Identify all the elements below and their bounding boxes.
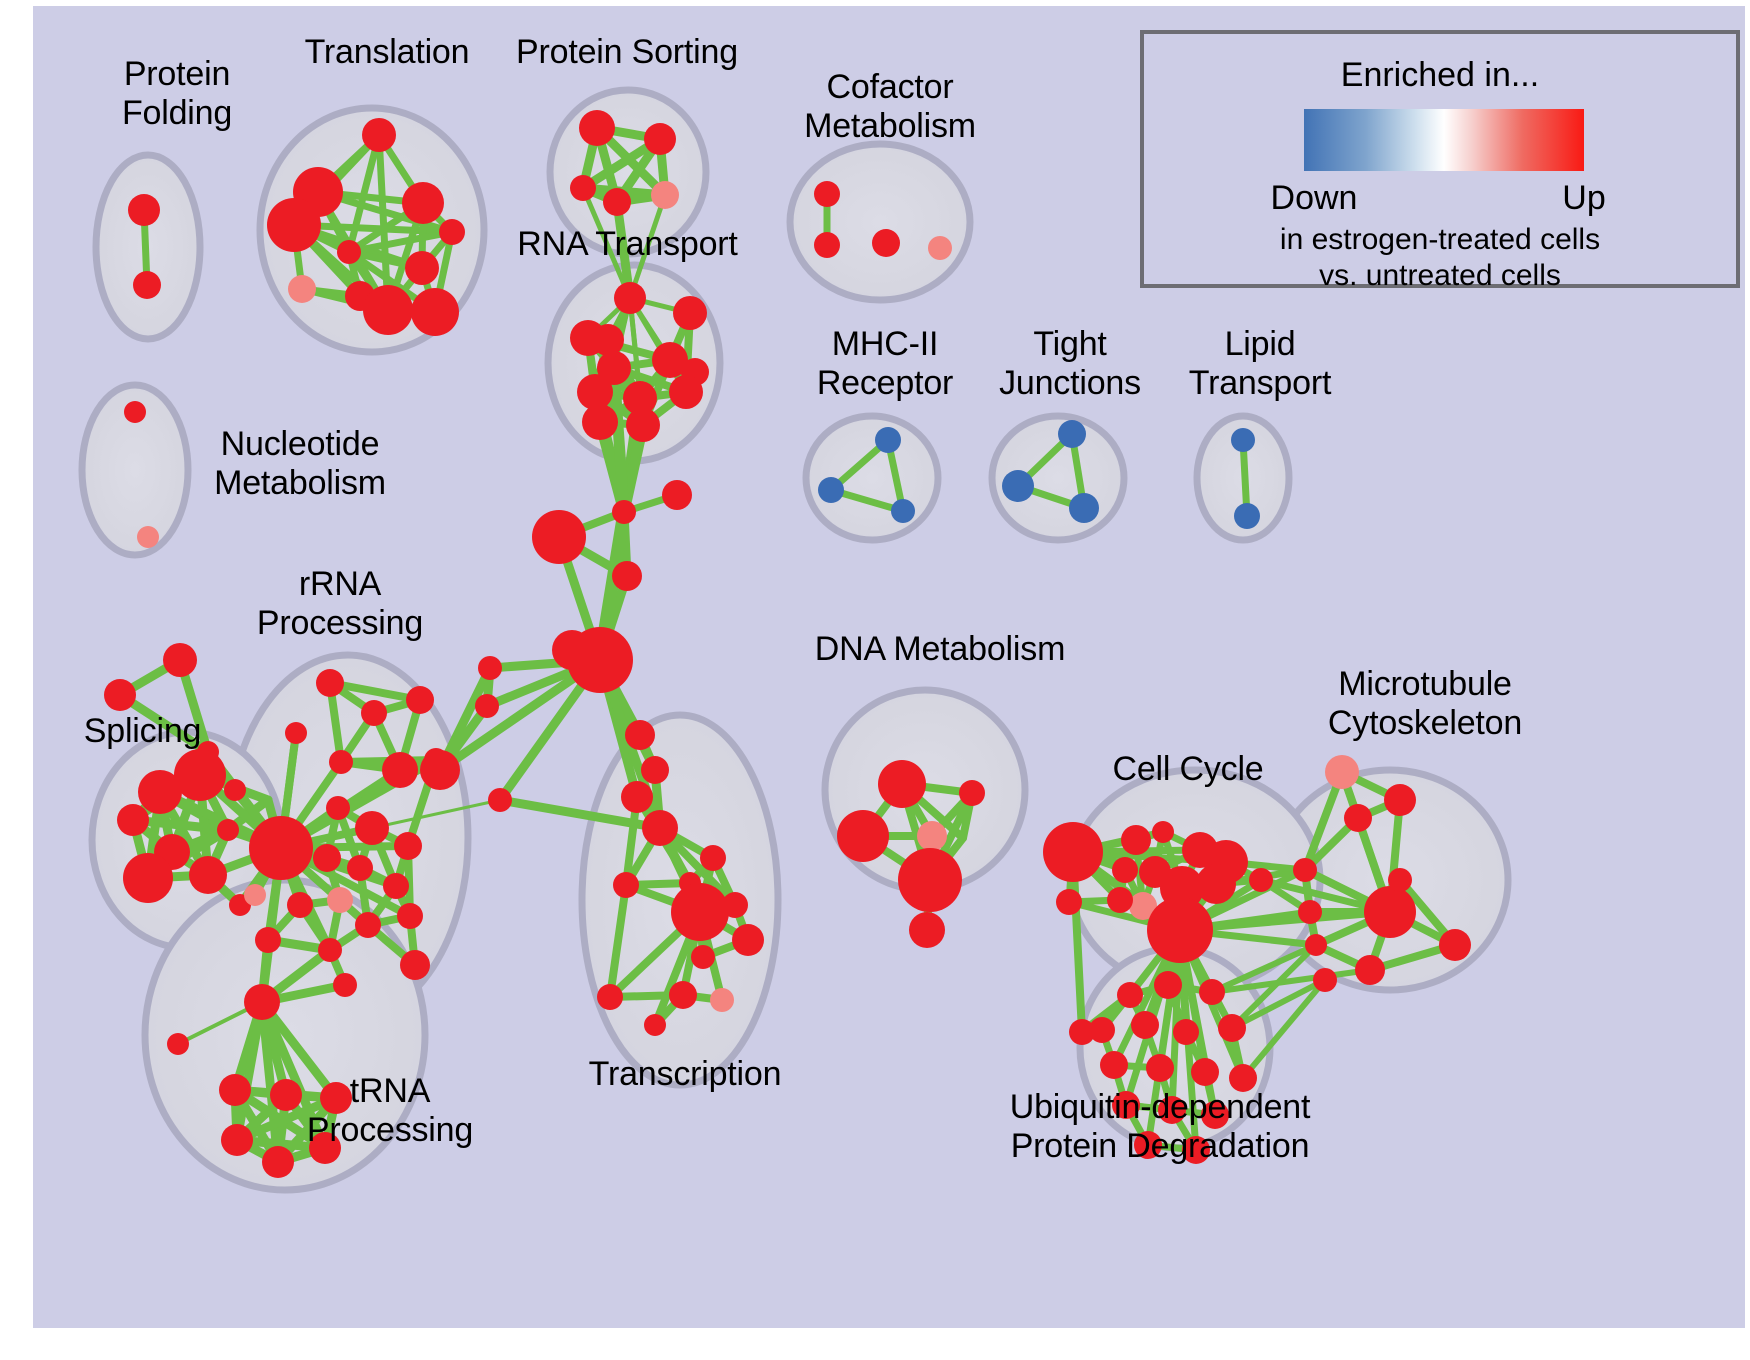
node <box>1147 897 1213 963</box>
node <box>189 856 227 894</box>
cluster-label-rna-transport: RNA Transport <box>500 225 755 264</box>
cluster-label-transcription: Transcription <box>560 1055 810 1094</box>
node <box>1002 470 1034 502</box>
node <box>552 630 592 670</box>
node <box>313 844 341 872</box>
node <box>405 251 439 285</box>
node <box>928 236 952 260</box>
node <box>651 181 679 209</box>
node <box>329 750 353 774</box>
node <box>673 296 707 330</box>
node <box>644 1014 666 1036</box>
cluster-label-tight-junctions: Tight Junctions <box>975 325 1165 403</box>
node <box>316 669 344 697</box>
hull-mhc <box>806 416 938 540</box>
node <box>1191 1058 1219 1086</box>
node <box>625 720 655 750</box>
node <box>1388 868 1412 892</box>
node <box>1069 493 1099 523</box>
node <box>1231 428 1255 452</box>
node <box>1152 821 1174 843</box>
node <box>671 883 729 941</box>
node <box>361 700 387 726</box>
node <box>621 781 653 813</box>
node <box>244 984 280 1020</box>
node <box>362 118 396 152</box>
node <box>532 510 586 564</box>
node <box>255 927 281 953</box>
node <box>1196 864 1236 904</box>
node <box>267 198 321 252</box>
node <box>579 110 615 146</box>
node <box>597 984 623 1010</box>
node <box>123 853 173 903</box>
node <box>1107 887 1133 913</box>
node <box>1121 825 1151 855</box>
node <box>221 1124 253 1156</box>
node <box>249 816 313 880</box>
node <box>612 561 642 591</box>
node <box>128 194 160 226</box>
cluster-label-rrna-processing: rRNA Processing <box>240 565 440 643</box>
node <box>355 912 381 938</box>
node <box>1089 1017 1115 1043</box>
node <box>382 752 418 788</box>
node <box>1218 1014 1246 1042</box>
node <box>174 749 226 801</box>
node <box>137 526 159 548</box>
node <box>669 375 703 409</box>
node <box>355 811 389 845</box>
node <box>133 271 161 299</box>
node <box>875 427 901 453</box>
node <box>1325 755 1359 789</box>
node <box>814 181 840 207</box>
node <box>814 232 840 258</box>
node <box>406 686 434 714</box>
node <box>642 810 678 846</box>
node <box>287 892 313 918</box>
node <box>570 175 596 201</box>
node <box>383 873 409 899</box>
node <box>582 404 618 440</box>
cluster-label-cell-cycle: Cell Cycle <box>1088 750 1288 789</box>
cluster-label-ubiquitin-protein-degradation: Ubiquitin-dependent Protein Degradation <box>960 1088 1360 1166</box>
node <box>117 804 149 836</box>
node <box>1313 968 1337 992</box>
node <box>347 855 373 881</box>
node <box>411 288 459 336</box>
legend-box: Enriched in... Down Up in estrogen-treat… <box>1140 30 1740 288</box>
node <box>478 656 502 680</box>
node <box>626 408 660 442</box>
node <box>1117 982 1143 1008</box>
node <box>1173 1019 1199 1045</box>
node <box>732 924 764 956</box>
node <box>1344 804 1372 832</box>
node <box>603 188 631 216</box>
node <box>891 499 915 523</box>
node <box>644 123 676 155</box>
node <box>1355 955 1385 985</box>
node <box>662 480 692 510</box>
node <box>641 756 669 784</box>
node <box>402 182 444 224</box>
node <box>614 282 646 314</box>
node <box>318 938 342 962</box>
node <box>400 950 430 980</box>
node <box>424 748 448 772</box>
cluster-label-protein-sorting: Protein Sorting <box>492 33 762 72</box>
node <box>1112 857 1138 883</box>
node <box>333 973 357 997</box>
node <box>244 884 266 906</box>
node <box>959 780 985 806</box>
enrichment-map-figure: .hull{fill:url(#cg);stroke:#adadc4;strok… <box>0 0 1750 1360</box>
node <box>1131 1011 1159 1039</box>
cluster-label-mhc-ii-receptor: MHC-II Receptor <box>790 325 980 403</box>
node <box>217 819 239 841</box>
node <box>1154 971 1182 999</box>
node <box>439 219 465 245</box>
node <box>1298 900 1322 924</box>
cluster-label-trna-processing: tRNA Processing <box>290 1072 490 1150</box>
node <box>722 892 748 918</box>
hull-cofactor <box>790 144 970 300</box>
node <box>909 912 945 948</box>
node <box>577 374 613 410</box>
node <box>1043 822 1103 882</box>
cluster-label-microtubule-cytoskeleton: Microtubule Cytoskeleton <box>1295 665 1555 743</box>
node <box>397 903 423 929</box>
node <box>613 872 639 898</box>
legend-subtitle: in estrogen-treated cells vs. untreated … <box>1144 222 1736 294</box>
node <box>219 1074 251 1106</box>
node <box>104 679 136 711</box>
legend-color-gradient-bar <box>1304 109 1584 171</box>
node <box>898 848 962 912</box>
node <box>1249 868 1273 892</box>
cluster-label-protein-folding: Protein Folding <box>72 55 282 133</box>
node <box>262 1146 294 1178</box>
node <box>488 788 512 812</box>
node <box>224 779 246 801</box>
node <box>700 845 726 871</box>
node <box>363 285 413 335</box>
node <box>163 643 197 677</box>
node <box>124 401 146 423</box>
node <box>326 796 350 820</box>
node <box>710 988 734 1012</box>
node <box>1305 934 1327 956</box>
cluster-label-translation: Translation <box>272 33 502 72</box>
legend-down-label: Down <box>1224 179 1404 218</box>
node <box>1058 420 1086 448</box>
node <box>394 832 422 860</box>
node <box>691 945 715 969</box>
node <box>1364 886 1416 938</box>
node <box>337 240 361 264</box>
node <box>837 810 889 862</box>
cluster-label-splicing: Splicing <box>55 712 230 751</box>
cluster-label-dna-metabolism: DNA Metabolism <box>800 630 1080 669</box>
node <box>917 821 947 851</box>
legend-title: Enriched in... <box>1144 56 1736 95</box>
cluster-label-lipid-transport: Lipid Transport <box>1165 325 1355 403</box>
node <box>167 1033 189 1055</box>
node <box>475 694 499 718</box>
node <box>872 229 900 257</box>
node <box>592 324 624 356</box>
node <box>285 722 307 744</box>
cluster-label-cofactor-metabolism: Cofactor Metabolism <box>775 68 1005 146</box>
node <box>327 887 353 913</box>
legend-up-label: Up <box>1504 179 1664 218</box>
node <box>1439 929 1471 961</box>
node <box>818 477 844 503</box>
node <box>1100 1051 1128 1079</box>
node <box>1234 503 1260 529</box>
node <box>878 760 926 808</box>
node <box>1199 979 1225 1005</box>
node <box>1056 889 1082 915</box>
node <box>1293 858 1317 882</box>
node <box>612 500 636 524</box>
node <box>288 275 316 303</box>
node <box>669 981 697 1009</box>
node <box>1146 1054 1174 1082</box>
node <box>1384 784 1416 816</box>
cluster-label-nucleotide-metabolism: Nucleotide Metabolism <box>185 425 415 503</box>
